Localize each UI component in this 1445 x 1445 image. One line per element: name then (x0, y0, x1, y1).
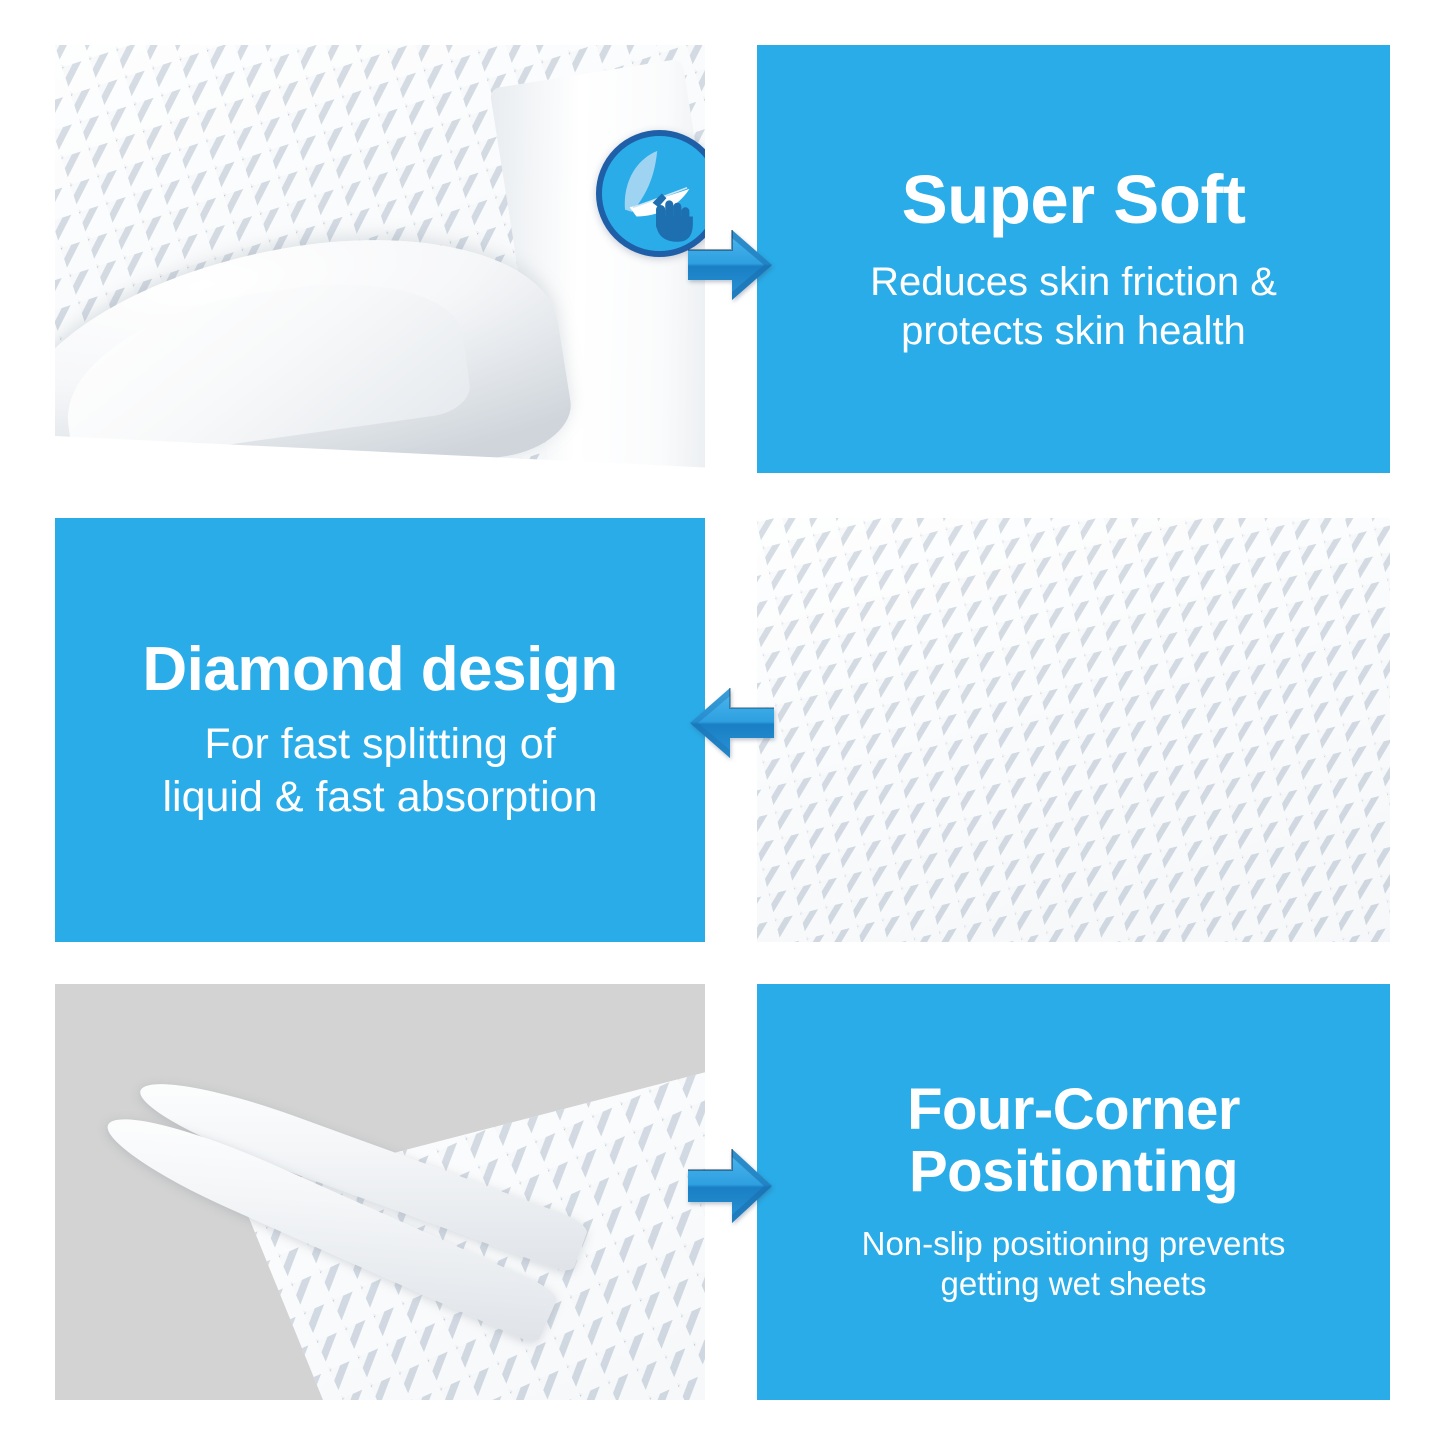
headline-line-1: Four-Corner (907, 1077, 1240, 1142)
quilted-fabric-texture (757, 518, 1390, 942)
arrow-right-icon-row1 (684, 222, 776, 308)
feature-subline-four-corner: Non-slip positioning prevents getting we… (862, 1224, 1286, 1305)
arrow-right-icon-row3 (684, 1140, 776, 1232)
photo-panel-four-corner (55, 984, 705, 1400)
feature-headline-super-soft: Super Soft (902, 163, 1246, 236)
subline-line-2: protects skin health (901, 309, 1246, 353)
feature-headline-four-corner: Four-Corner Positionting (907, 1079, 1240, 1202)
feature-subline-super-soft: Reduces skin friction & protects skin he… (870, 258, 1277, 356)
headline-line-2: Positionting (909, 1139, 1238, 1204)
product-feature-infographic: Super Soft Reduces skin friction & prote… (0, 0, 1445, 1445)
subline-line-2: liquid & fast absorption (162, 773, 597, 821)
photo-panel-diamond-design (757, 518, 1390, 942)
feature-headline-diamond-design: Diamond design (142, 637, 617, 703)
text-panel-four-corner: Four-Corner Positionting Non-slip positi… (757, 984, 1390, 1400)
photo-panel-super-soft (55, 45, 705, 473)
feature-subline-diamond-design: For fast splitting of liquid & fast abso… (162, 718, 597, 823)
subline-line-2: getting wet sheets (940, 1265, 1206, 1302)
text-panel-super-soft: Super Soft Reduces skin friction & prote… (757, 45, 1390, 473)
arrow-left-icon-row2 (686, 680, 778, 766)
subline-line-1: Non-slip positioning prevents (862, 1225, 1286, 1262)
subline-line-1: For fast splitting of (204, 720, 555, 768)
subline-line-1: Reduces skin friction & (870, 260, 1277, 304)
text-panel-diamond-design: Diamond design For fast splitting of liq… (55, 518, 705, 942)
